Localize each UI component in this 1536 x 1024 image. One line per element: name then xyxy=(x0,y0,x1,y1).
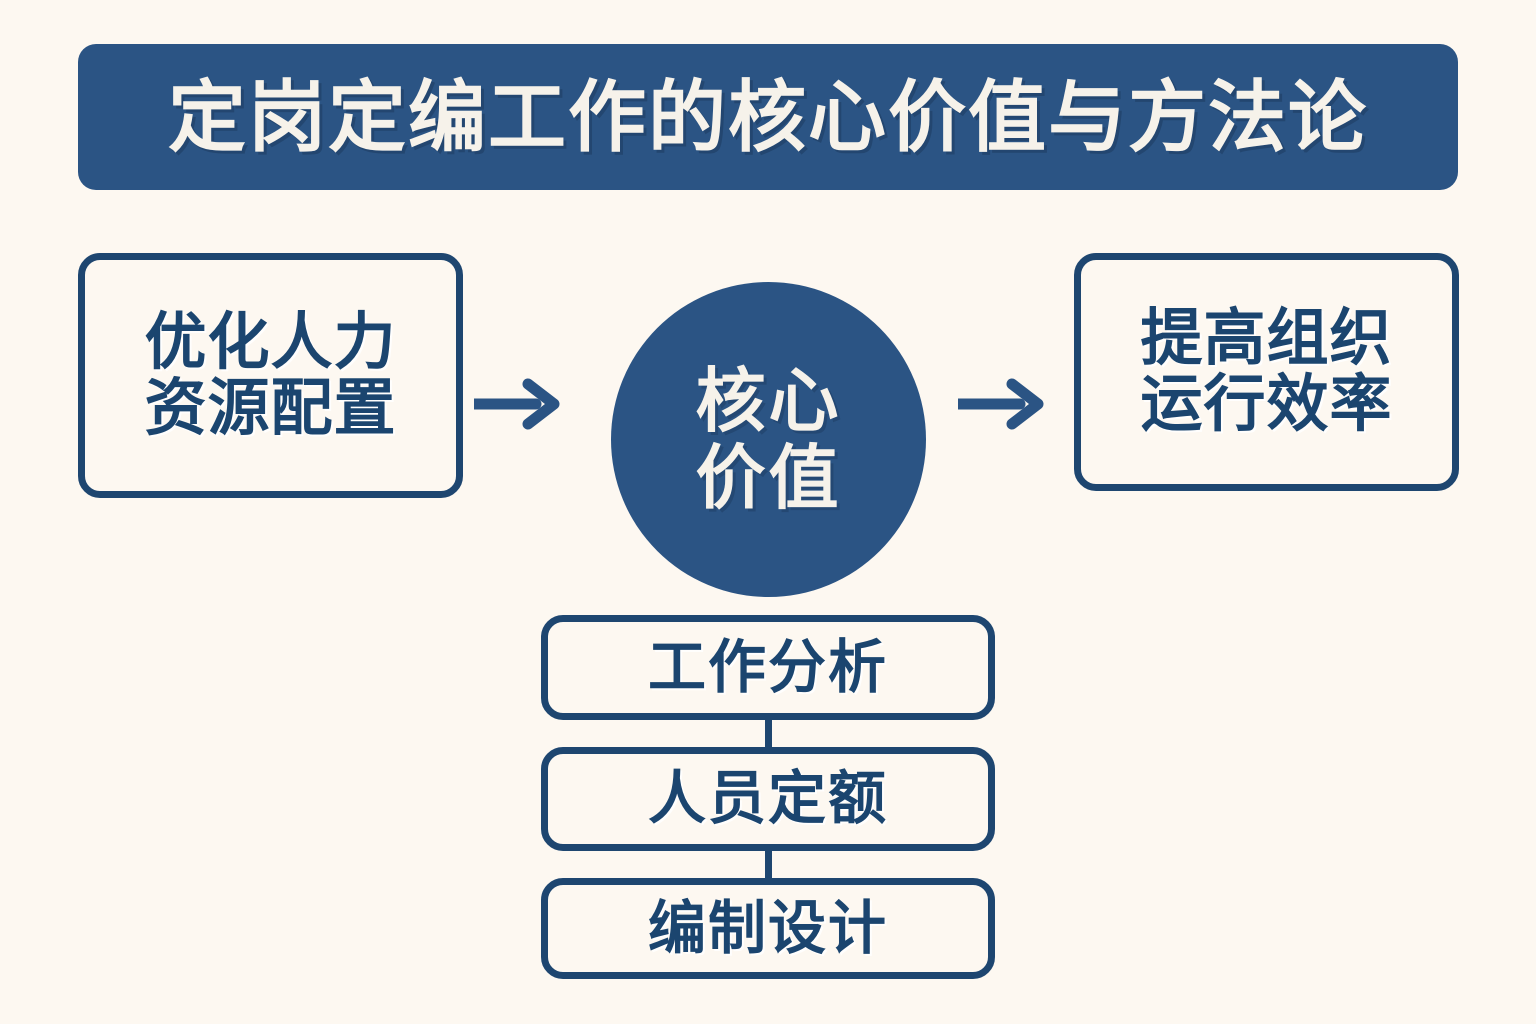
method-step-3[interactable]: 编制设计 xyxy=(541,878,995,979)
outcome-left-line1: 优化人力 xyxy=(144,310,396,376)
outcome-box-right[interactable]: 提高组织 运行效率 xyxy=(1074,253,1459,491)
outcome-box-left[interactable]: 优化人力 资源配置 xyxy=(78,253,463,498)
method-step-2[interactable]: 人员定额 xyxy=(541,747,995,851)
core-line1: 核心 xyxy=(696,363,842,440)
outcome-left-line2: 资源配置 xyxy=(144,376,396,442)
method-step-1-label: 工作分析 xyxy=(648,637,888,698)
connector-step-1-2 xyxy=(765,718,772,749)
method-step-3-label: 编制设计 xyxy=(648,898,888,959)
core-value-circle[interactable]: 核心 价值 xyxy=(611,282,926,597)
page-title: 定岗定编工作的核心价值与方法论 xyxy=(168,78,1368,156)
connector-step-2-3 xyxy=(765,849,772,880)
method-step-1[interactable]: 工作分析 xyxy=(541,615,995,720)
diagram-canvas: 定岗定编工作的核心价值与方法论 优化人力 资源配置 核心 价值 提高组织 运行效… xyxy=(0,0,1536,1024)
arrow-right-icon-left xyxy=(474,376,564,432)
title-banner: 定岗定编工作的核心价值与方法论 xyxy=(78,44,1458,190)
outcome-right-line1: 提高组织 xyxy=(1140,306,1392,372)
core-line2: 价值 xyxy=(696,440,842,517)
arrow-right-icon-right xyxy=(958,376,1048,432)
method-step-2-label: 人员定额 xyxy=(648,768,888,829)
outcome-right-line2: 运行效率 xyxy=(1140,372,1392,438)
